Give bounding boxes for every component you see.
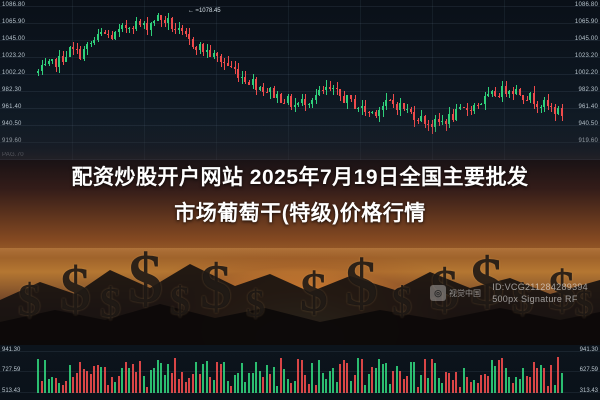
dollar-sign-icon: $ [300,265,328,321]
candle-body [399,371,401,393]
candle-body [259,87,261,90]
candle-body [280,94,282,103]
candle-body [97,34,99,40]
candle-body [322,373,324,393]
candle-body [114,32,116,39]
candle-body [280,358,282,393]
candle-body [294,105,296,106]
candle-body [220,364,222,393]
candle-body [354,375,356,393]
grid-line [0,371,600,372]
candle-body [406,376,408,393]
dollar-sign-icon: $ [128,245,163,315]
candle-body [336,88,338,89]
dollar-sign-icon: $ [470,247,504,315]
candle-body [410,109,412,112]
candle-body [83,369,85,393]
axis-right-label: 961.40 [578,104,598,110]
candle-body [55,59,57,67]
candle-body [93,366,95,393]
candle-body [526,100,528,101]
candle-body [174,358,176,393]
candle-body [143,376,145,393]
candle-body [287,379,289,393]
candle-body [150,370,152,393]
candle-body [308,104,310,105]
candle-body [526,376,528,393]
candle-body [283,103,285,104]
candle-body [202,364,204,393]
candle-body [255,79,257,89]
axis-left-label: 961.40 [2,104,22,110]
candle-body [385,363,387,393]
candle-body [153,368,155,393]
candle-body [536,368,538,393]
bottom-axis-right-label: 627.59 [580,367,598,373]
candle-body [392,371,394,393]
bottom-axis-right-label: 941.30 [580,347,598,353]
candle-body [209,377,211,393]
candle-body [498,360,500,393]
candle-body [135,21,137,29]
candle-body [438,378,440,393]
candle-body [484,374,486,393]
candle-body [100,32,102,34]
candle-body [375,112,377,116]
candle-body [69,365,71,393]
candle-body [357,358,359,393]
candle-body [132,28,134,29]
candle-body [76,49,78,50]
candle-body [51,59,53,61]
candle-body [533,362,535,393]
candle-body [216,362,218,393]
bottom-chart-band: 941.30 727.59 513.43 941.30 627.59 313.4… [0,345,600,400]
candle-body [470,110,472,111]
candle-body [48,379,50,393]
candle-body [382,364,384,393]
image-canvas: 1086.80 1065.90 1045.00 1023.20 1002.20 … [0,0,600,400]
candle-body [445,372,447,393]
dollar-sign-icon: $ [170,281,190,321]
candle-body [522,95,524,99]
candle-body [515,377,517,393]
candle-body [51,377,53,393]
candle-body [290,96,292,107]
candle-body [86,371,88,393]
candle-body [378,110,380,115]
grid-line [0,74,600,75]
candle-body [343,360,345,393]
candle-body [297,359,299,393]
dollar-sign-icon: $ [246,285,265,323]
candle-body [209,50,211,57]
candle-body [227,63,229,66]
candle-body [213,53,215,57]
watermark-size: 500px Signature RF [492,294,588,304]
candle-body [252,373,254,393]
candle-body [385,100,387,106]
candle-body [202,44,204,52]
candle-body [368,374,370,393]
candle-body [480,375,482,393]
candle-body [273,88,275,98]
candle-body [118,29,120,33]
grid-line [0,23,600,24]
candle-body [399,103,401,110]
candle-body [269,374,271,393]
grid-line [0,351,600,352]
axis-left-label: 1045.00 [2,36,25,42]
candle-body [181,28,183,31]
watermark-id: ID:VCG211284289394 [492,282,588,292]
candle-body [329,87,331,89]
candle-body [533,93,535,104]
candle-body [424,359,426,393]
candle-body [139,361,141,393]
axis-left-label: 982.30 [2,87,22,93]
candle-body [174,29,176,31]
candle-body [41,65,43,71]
candle-body [378,359,380,393]
candle-body [498,96,500,97]
candle-body [223,62,225,63]
candle-body [237,373,239,393]
candle-body [37,71,39,72]
dollar-sign-icon: $ [200,255,232,319]
candle-body [206,50,208,52]
headline-line-2: 市场葡萄干(特级)价格行情 [0,196,600,232]
candle-body [448,373,450,393]
grid-line [0,57,600,58]
candle-body [491,360,493,393]
candle-body [199,44,201,50]
bottom-axis-left-label: 941.30 [2,347,20,353]
candle-body [480,104,482,105]
candle-body [297,103,299,105]
candle-body [389,100,391,101]
candle-body [266,92,268,93]
candle-body [346,95,348,102]
candle-body [178,28,180,31]
candle-body [248,82,250,85]
watermark-block: ID:VCG211284289394 500px Signature RF [492,282,588,304]
candle-body [97,365,99,393]
candle-body [266,365,268,393]
candle-body [76,373,78,393]
candle-body [121,25,123,29]
candle-body [37,359,39,393]
candle-body [111,377,113,393]
candle-body [434,363,436,393]
candle-body [255,362,257,393]
candle-body [86,44,88,49]
dollar-sign-icon: $ [345,251,378,317]
candle-body [536,104,538,107]
candle-body [329,371,331,393]
candle-body [529,93,531,100]
candle-body [188,34,190,38]
candle-body [420,375,422,393]
candle-body [171,373,173,393]
candle-body [304,375,306,393]
candle-body [487,94,489,96]
candle-body [72,377,74,393]
candle-body [157,360,159,393]
candle-body [455,372,457,393]
candle-body [371,112,373,113]
candle-body [244,77,246,82]
axis-right-label: 1045.00 [575,36,598,42]
watermark-brand: ◎ 视觉中国 [430,282,482,304]
candle-body [519,379,521,393]
bottom-axis-left-label: 727.59 [2,367,20,373]
candle-body [199,374,201,393]
candle-body [234,67,236,70]
candle-body [160,15,162,20]
candle-body [311,363,313,393]
candle-body [543,100,545,107]
candle-body [48,61,50,64]
bottom-axis-right-label: 313.43 [580,388,598,394]
axis-right-label: 1086.80 [575,2,598,8]
candle-body [466,377,468,393]
dollar-sign-icon: $ [392,281,412,321]
brand-mark-icon: ◎ [430,285,446,301]
candle-body [325,379,327,393]
candle-body [410,362,412,393]
candle-body [157,15,159,21]
grid-line [0,392,600,393]
bottom-axis-left-label: 513.43 [2,388,20,394]
candle-body [487,376,489,393]
candle-body [484,96,486,104]
candle-body [529,377,531,393]
grid-line [0,91,600,92]
candle-body [301,360,303,393]
candle-body [403,379,405,393]
candle-body [339,364,341,393]
candle-body [178,379,180,393]
candle-body [315,95,317,100]
candle-body [406,109,408,110]
axis-right-label: 1023.20 [575,53,598,59]
candle-body [452,380,454,393]
candle-body [223,362,225,393]
candle-body [185,31,187,34]
candle-body [332,88,334,89]
axis-left-label: 1002.20 [2,70,25,76]
candle-body [540,365,542,393]
candle-body [230,66,232,67]
candle-body [508,377,510,393]
candle-wick [231,61,232,68]
headline-line-1: 配资炒股开户网站 2025年7月19日全国主要批发 [71,166,528,189]
candle-body [195,47,197,50]
watermark-brand-label: 视觉中国 [449,288,481,299]
axis-right-label: 982.30 [578,87,598,93]
candle-body [301,99,303,103]
candle-body [413,362,415,393]
candle-body [111,35,113,40]
candle-body [55,378,57,393]
candle-body [125,362,127,393]
candle-body [104,32,106,34]
candle-body [325,87,327,90]
candle-body [69,47,71,57]
candle-body [505,86,507,94]
candle-body [188,378,190,393]
candle-body [427,378,429,393]
candle-body [262,377,264,393]
candle-body [192,374,194,393]
candle-body [195,362,197,393]
axis-right-label: 1065.90 [575,19,598,25]
candle-body [135,372,137,393]
candle-body [128,28,130,29]
candle-body [164,375,166,393]
grid-line [0,40,600,41]
candle-body [396,104,398,111]
candle-body [241,363,243,393]
candle-body [550,106,552,107]
axis-left-label: 1023.20 [2,53,25,59]
grid-line [0,6,600,7]
candle-body [318,360,320,393]
candle-body [501,358,503,393]
candle-body [160,363,162,393]
candle-body [44,64,46,65]
candle-body [132,364,134,393]
candle-body [368,112,370,113]
candle-body [125,25,127,29]
candle-body [234,375,236,393]
candle-body [206,361,208,393]
candle-body [90,43,92,44]
candle-body [452,114,454,120]
candle-body [550,365,552,393]
candle-body [392,100,394,103]
candle-body [455,109,457,120]
candle-body [283,369,285,393]
candle-body [557,357,559,393]
candle-body [181,372,183,393]
candle-body [90,374,92,393]
candle-body [361,359,363,393]
candle-wick [38,69,39,76]
candle-body [118,376,120,393]
candle-wick [333,85,334,96]
candle-body [343,96,345,103]
candle-body [248,373,250,393]
grid-line [0,108,600,109]
candle-body [44,360,46,393]
candle-body [304,99,306,105]
candle-body [311,100,313,104]
candle-body [547,100,549,106]
candle-body [79,362,81,393]
dollar-sign-icon: $ [18,277,41,323]
candle-body [561,373,563,393]
axis-left-label: 1086.80 [2,2,25,8]
candle-body [107,34,109,35]
candle-body [431,359,433,393]
candle-body [350,95,352,98]
candle-body [346,363,348,393]
candle-body [477,105,479,106]
dollar-sign-icon: $ [100,283,121,325]
dollar-sign-icon: $ [60,259,91,321]
candle-body [167,364,169,393]
candle-body [241,77,243,79]
candle-body [252,79,254,84]
candle-body [276,94,278,98]
axis-left-label: 1065.90 [2,19,25,25]
headline-text: 配资炒股开户网站 2025年7月19日全国主要批发 市场葡萄干(特级)价格行情 [0,160,600,232]
candle-wick [224,58,225,70]
candle-body [259,371,261,393]
axis-right-label: 1002.20 [575,70,598,76]
